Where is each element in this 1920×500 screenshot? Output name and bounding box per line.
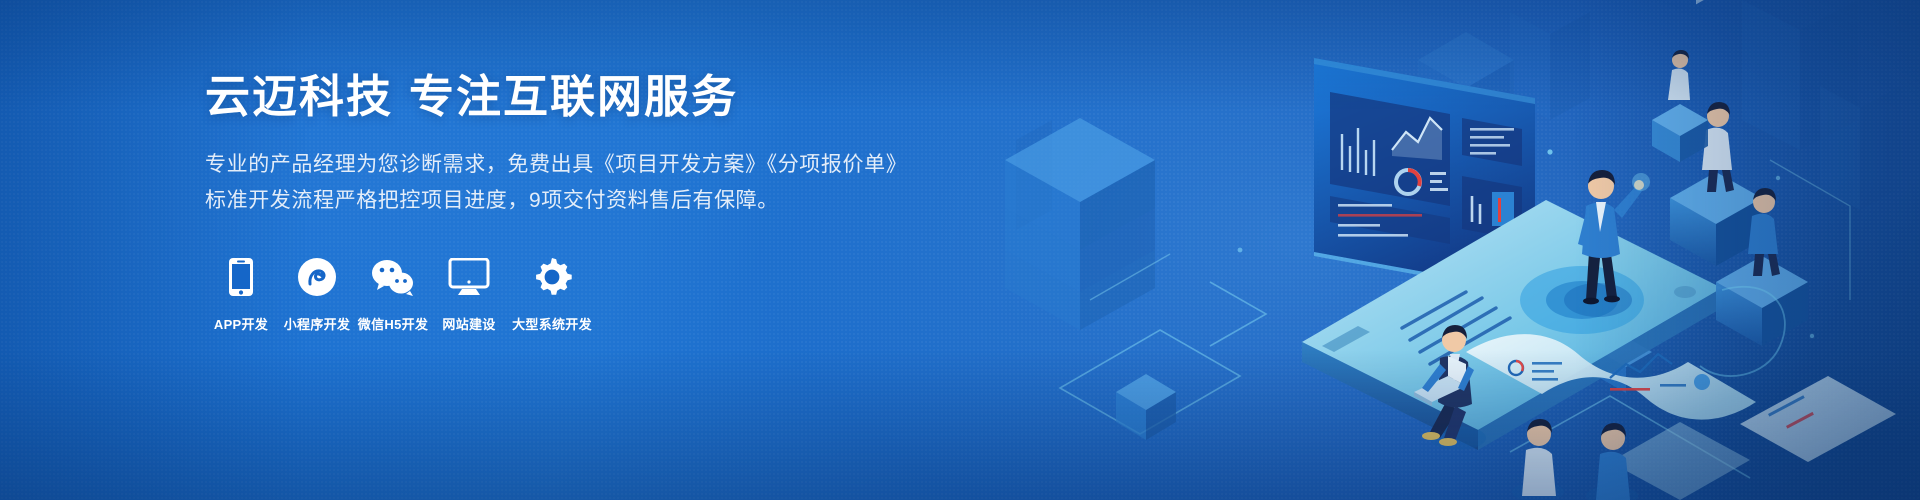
page-title: 云迈科技专注互联网服务 bbox=[205, 72, 965, 122]
title-brand: 云迈科技 bbox=[205, 71, 393, 122]
mini-program-icon bbox=[297, 254, 337, 300]
banner-content: 云迈科技专注互联网服务 专业的产品经理为您诊断需求，免费出具《项目开发方案》《分… bbox=[205, 0, 965, 500]
service-item-app[interactable]: APP开发 bbox=[205, 254, 277, 333]
service-label-website: 网站建设 bbox=[442, 314, 495, 333]
service-label-enterprise-system: 大型系统开发 bbox=[512, 314, 592, 333]
subtitle-line-2: 标准开发流程严格把控项目进度，9项交付资料售后有保障。 bbox=[205, 183, 965, 218]
service-label-miniprogram: 小程序开发 bbox=[284, 314, 351, 333]
service-label-wechat-h5: 微信H5开发 bbox=[358, 314, 428, 333]
wechat-icon bbox=[370, 254, 416, 300]
service-label-app: APP开发 bbox=[214, 314, 268, 333]
mobile-phone-icon bbox=[228, 254, 254, 300]
hero-banner: 云迈科技专注互联网服务 专业的产品经理为您诊断需求，免费出具《项目开发方案》《分… bbox=[0, 0, 1920, 500]
banner-subtitle: 专业的产品经理为您诊断需求，免费出具《项目开发方案》《分项报价单》 标准开发流程… bbox=[205, 147, 965, 218]
service-icon-row: APP开发 小程序开发 bbox=[205, 254, 965, 333]
service-item-enterprise-system[interactable]: 大型系统开发 bbox=[509, 254, 595, 333]
hero-illustration bbox=[910, 0, 1920, 500]
monitor-icon bbox=[448, 254, 490, 300]
service-item-website[interactable]: 网站建设 bbox=[433, 254, 505, 333]
subtitle-line-1: 专业的产品经理为您诊断需求，免费出具《项目开发方案》《分项报价单》 bbox=[205, 147, 965, 182]
service-item-wechat-h5[interactable]: 微信H5开发 bbox=[357, 254, 429, 333]
gear-icon bbox=[532, 254, 572, 300]
service-item-miniprogram[interactable]: 小程序开发 bbox=[281, 254, 353, 333]
title-tagline: 专注互联网服务 bbox=[409, 71, 738, 122]
